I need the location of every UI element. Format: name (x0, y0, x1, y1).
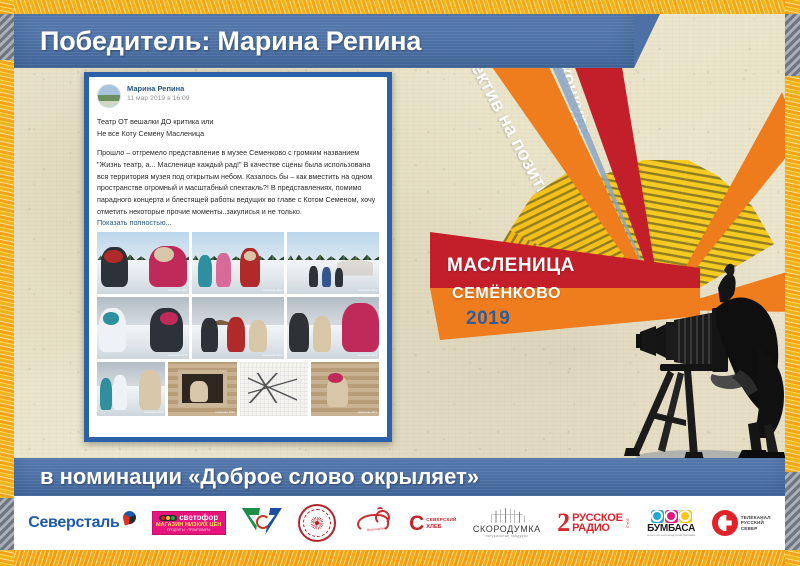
poster: Объектив на позитив Фотоконкурс МАСЛЕНИЦ… (0, 0, 800, 566)
sponsor-severstal[interactable]: Северсталь (28, 514, 135, 532)
corner-accent-bottom-left (0, 498, 14, 550)
logo-maslenitsa: МАСЛЕНИЦА (447, 255, 575, 277)
radio-label-line2: РАДИО (572, 523, 622, 533)
photo-watermark: семенково 2019 (263, 289, 282, 292)
border-left (0, 0, 14, 566)
village-houses-icon (487, 508, 527, 523)
radio-frequency-label: 104,3 (626, 518, 631, 528)
post-title-line2: Не все Коту Семену Масленица (97, 129, 204, 138)
bumbasa-label: БУМБАСА (647, 524, 695, 534)
bread-label-line1: СЕВЕРСКИЙ (426, 517, 456, 522)
bumbasa-swatches-icon (651, 510, 692, 523)
photographer-silhouette (612, 252, 794, 470)
photo-crowd-scarf[interactable]: семенково 2019 (287, 297, 379, 359)
post-body-text: Прошло – отгремело представление в музее… (97, 147, 379, 217)
corner-accent-top-right (785, 14, 800, 76)
sponsor-russkoe-radio[interactable]: 2 РУССКОЕ РАДИО 104,3 (557, 512, 630, 534)
photo-village-walk[interactable]: семенково 2019 (287, 232, 379, 294)
photo-watermark: семенково 2019 (215, 411, 234, 414)
sponsor-round-seal[interactable] (298, 504, 336, 542)
logo-year: 2019 (466, 308, 510, 330)
sponsor-svetofor[interactable]: светофор МАГАЗИН НИЗКИХ ЦЕН ПРОДУКТЫ · П… (152, 511, 226, 536)
photo-table-guests[interactable]: семенково 2019 (97, 362, 165, 416)
bread-label-line2: ХЛЕБ (426, 524, 456, 530)
sponsor-poultry[interactable]: Вологодская (353, 508, 393, 538)
tv-circle-icon (712, 510, 738, 536)
photo-row-3: семенково 2019 семенково 2019 се (97, 362, 379, 416)
bread-mark-icon: С (409, 513, 424, 534)
post-header: Марина Репина 11 мар 2019 в 16:09 (97, 84, 379, 108)
bird-swirl-icon (256, 515, 270, 529)
page-title: Победитель: Марина Репина (14, 26, 421, 57)
headline-band: Победитель: Марина Репина (14, 14, 634, 68)
post-title: Театр ОТ вешалки ДО критика или Не все К… (97, 116, 379, 139)
photo-children-snow[interactable]: семенково 2019 (192, 232, 284, 294)
tv-label-line3: СЕВЕР (741, 526, 771, 531)
photo-watermark: семенково 2019 (168, 354, 187, 357)
nomination-text: в номинации «Доброе слово окрыляет» (14, 464, 479, 490)
photo-watermark: семенково 2019 (358, 289, 377, 292)
headline-band-tip (634, 14, 660, 68)
photo-women-laughing[interactable]: семенково 2019 (97, 297, 189, 359)
photo-folk-dancers[interactable]: семенково 2019 (192, 297, 284, 359)
photo-watermark: семенково 2019 (168, 289, 187, 292)
sponsor-triangle-emblem[interactable] (242, 506, 282, 540)
radio-two-icon: 2 (557, 512, 570, 534)
corner-accent-top-left (0, 14, 14, 60)
photo-women-pancakes[interactable]: семенково 2019 (97, 232, 189, 294)
photo-row-2: семенково 2019 семенково 2019 (97, 297, 379, 359)
severstal-label: Северсталь (28, 514, 119, 532)
vk-post-inner: Марина Репина 11 мар 2019 в 16:09 Театр … (89, 77, 387, 437)
photo-girl-swing[interactable]: семенково 2019 (311, 362, 379, 416)
avatar[interactable] (97, 84, 121, 108)
traffic-light-icon (159, 515, 177, 521)
sponsor-logo-strip: Северсталь светофор МАГАЗИН НИЗКИХ ЦЕН П… (14, 496, 785, 550)
post-photo-grid: семенково 2019 семенково 2019 (97, 232, 379, 416)
post-author-name[interactable]: Марина Репина (127, 84, 190, 93)
skorodumka-label: СКОРОДУМКА (473, 525, 541, 534)
sponsor-bread[interactable]: С СЕВЕРСКИЙ ХЛЕБ (409, 513, 456, 534)
border-bottom (0, 550, 800, 566)
sponsor-bumbasa[interactable]: БУМБАСА агентство нестандартной рекламы (647, 510, 695, 537)
chicken-comb-icon (377, 507, 383, 513)
post-title-line1: Театр ОТ вешалки ДО критика или (97, 117, 213, 126)
skorodumka-sub-label: натуральные продукты (486, 535, 528, 538)
photo-watermark: семенково 2019 (358, 354, 377, 357)
photo-watermark: семенково 2019 (144, 411, 163, 414)
svetofor-label: светофор (179, 514, 218, 522)
severstal-mark-icon (121, 510, 137, 526)
photo-row-1: семенково 2019 семенково 2019 (97, 232, 379, 294)
bumbasa-sub-label: агентство нестандартной рекламы (647, 534, 695, 537)
corner-accent-bottom-right (785, 472, 800, 550)
border-top (0, 0, 800, 14)
photo-watermark: семенково 2019 (263, 354, 282, 357)
svetofor-sub2-label: ПРОДУКТЫ · ПРОМТОВАРЫ (167, 529, 210, 532)
photo-window-girl[interactable]: семенково 2019 (168, 362, 236, 416)
sponsor-skorodumka[interactable]: СКОРОДУМКА натуральные продукты (473, 508, 541, 538)
photo-signature-note[interactable] (240, 362, 308, 416)
nomination-band: в номинации «Доброе слово окрыляет» (14, 458, 785, 496)
photo-watermark: семенково 2019 (358, 411, 377, 414)
post-timestamp[interactable]: 11 мар 2019 в 16:09 (127, 94, 190, 103)
vk-post-card[interactable]: Марина Репина 11 мар 2019 в 16:09 Театр … (84, 72, 392, 442)
logo-semenkovo: СЕМЁНКОВО (452, 285, 561, 303)
show-more-link[interactable]: Показать полностью... (97, 218, 379, 227)
sponsor-telekanal[interactable]: ТЕЛЕКАНАЛ РУССКИЙ СЕВЕР (712, 510, 771, 536)
